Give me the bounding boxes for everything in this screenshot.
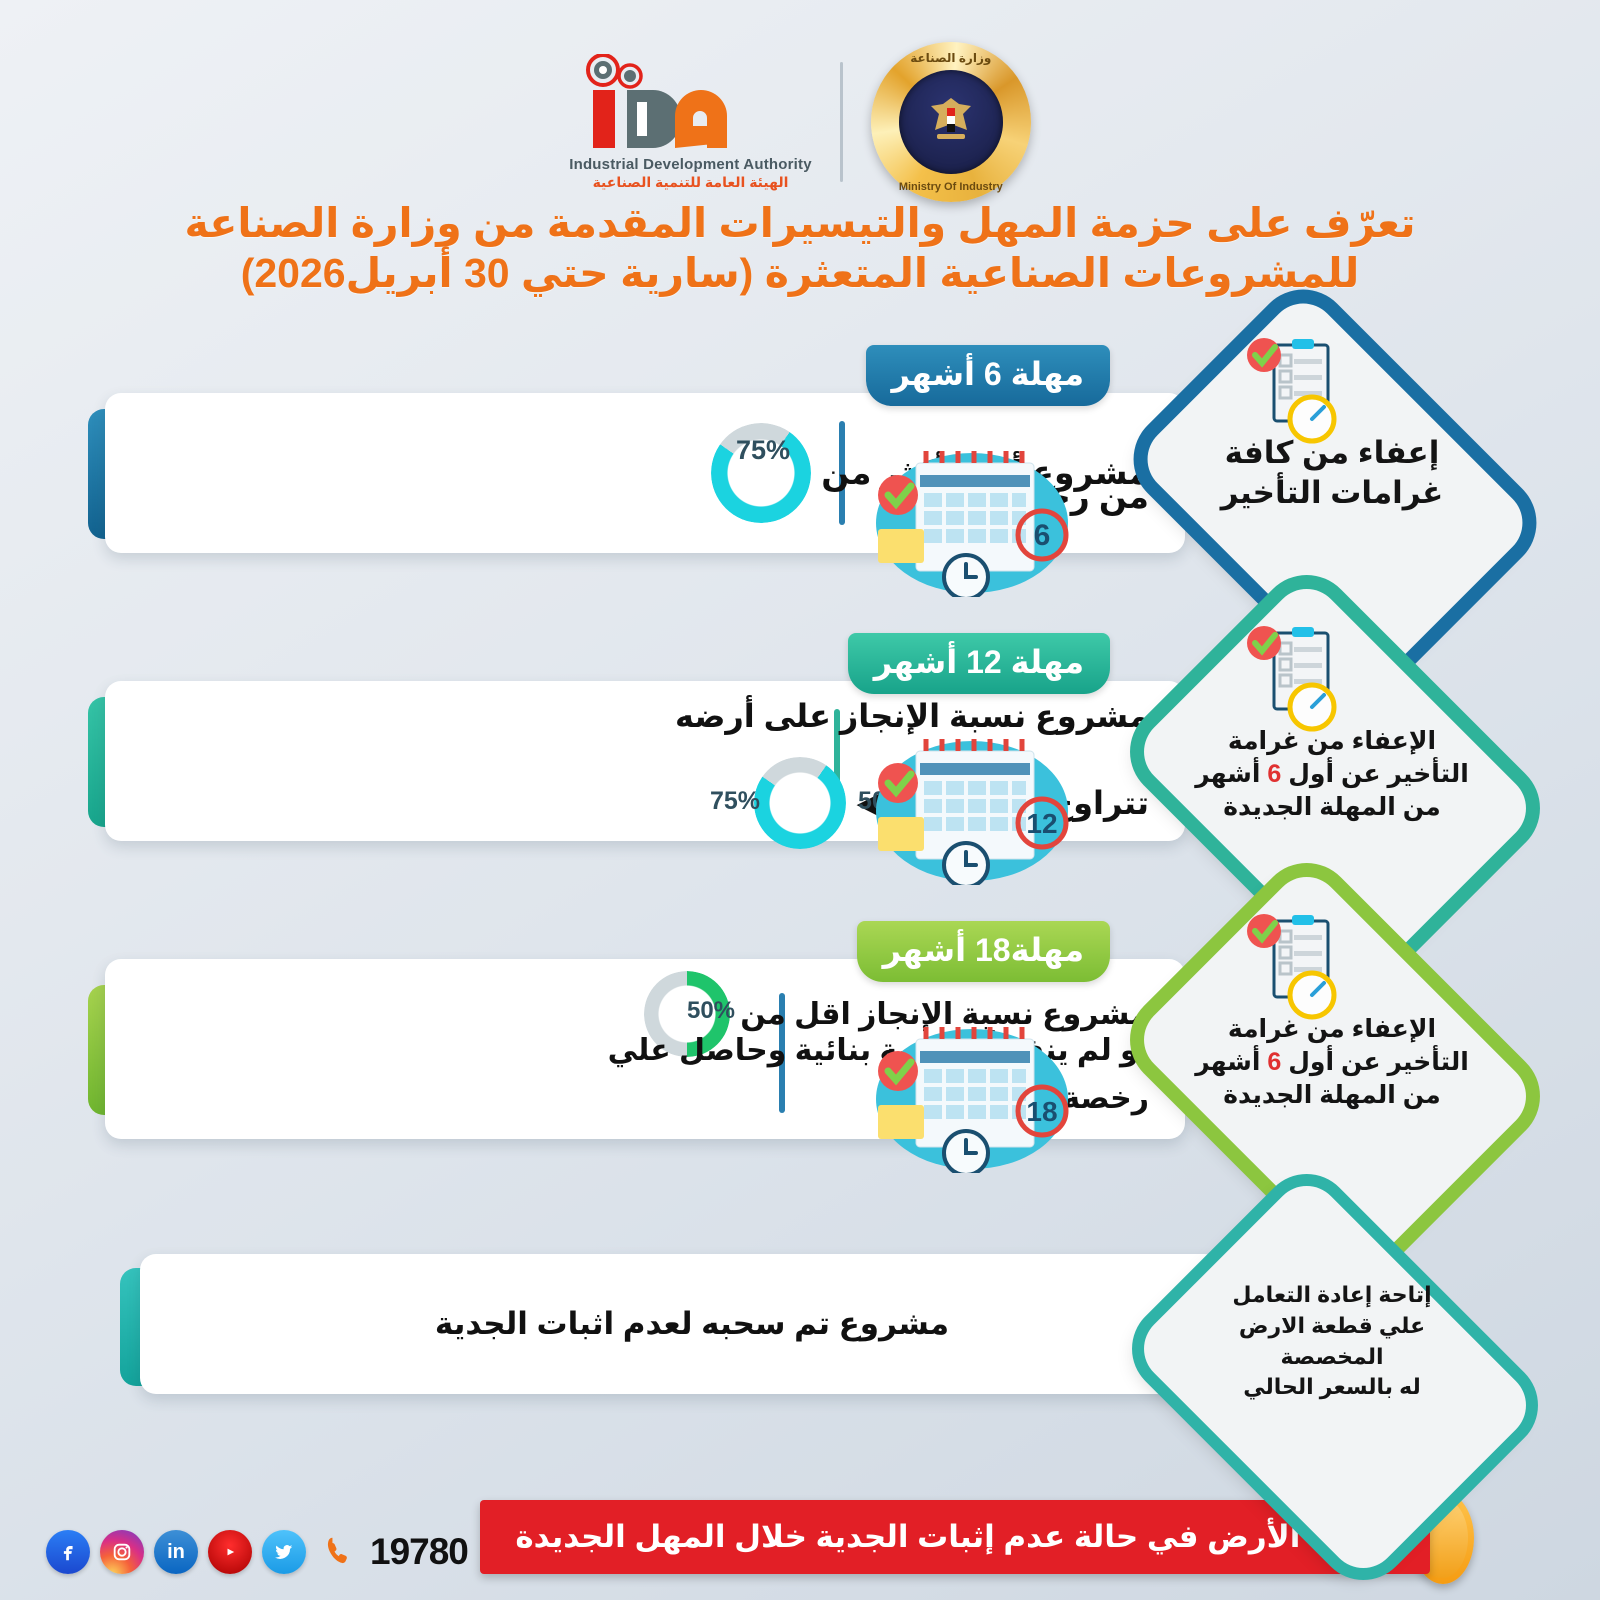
benefit-line3: له بالسعر الحالي xyxy=(1243,1374,1421,1399)
clipboard-check-icon xyxy=(1242,911,1342,1023)
benefit-line1: إتاحة إعادة التعامل xyxy=(1232,1282,1431,1307)
row-criteria-text: مشروع تم سحبه لعدم اثبات الجدية xyxy=(200,1254,1184,1394)
phone-icon xyxy=(322,1532,360,1572)
calendar-illustration-12: 12 xyxy=(854,725,1084,885)
facebook-icon[interactable] xyxy=(46,1530,90,1574)
instagram-icon[interactable] xyxy=(100,1530,144,1574)
seal-english-label: Ministry Of Industry xyxy=(871,181,1031,193)
benefit-text: إتاحة إعادة التعامل علي قطعة الارض المخص… xyxy=(1188,1280,1476,1403)
benefit-line3: من المهلة الجديدة xyxy=(1223,793,1440,821)
page-title: تعرّف على حزمة المهل والتيسيرات المقدمة … xyxy=(74,198,1526,298)
logo-divider xyxy=(840,62,843,182)
donut-75-label: 75% xyxy=(713,431,813,469)
benefit-line2-a: التأخير عن أول xyxy=(1288,760,1469,788)
benefit-text: الإعفاء من غرامة التأخير عن أول 6 أشهر م… xyxy=(1182,1013,1482,1112)
calendar-number-18: 18 xyxy=(1026,1096,1057,1127)
ministry-seal: وزارة الصناعة Ministry Of Industry xyxy=(871,42,1031,202)
donut-75-label: 75% xyxy=(689,787,781,816)
benefit-line2: علي قطعة الارض المخصصة xyxy=(1239,1313,1425,1369)
benefit-text: الإعفاء من غرامة التأخير عن أول 6 أشهر م… xyxy=(1182,725,1482,824)
calendar-number-6: 6 xyxy=(1034,519,1051,552)
benefit-line2-b: أشهر xyxy=(1195,1048,1260,1076)
row-12-months: مشروع نسبة الإنجاز على أرضه تتراوح من 50… xyxy=(0,625,1600,925)
ida-letters-icon xyxy=(575,54,805,154)
benefit-diamond-wrap: الإعفاء من غرامة التأخير عن أول 6 أشهر م… xyxy=(1130,913,1510,1213)
calendar-illustration-6: 6 xyxy=(854,437,1084,597)
ida-logo-english: Industrial Development Authority xyxy=(569,156,812,173)
ida-logo: Industrial Development Authority الهيئة … xyxy=(569,54,812,191)
calendar-number-12: 12 xyxy=(1026,808,1057,839)
benefit-months-number: 6 xyxy=(1267,760,1281,788)
seal-arabic-label: وزارة الصناعة xyxy=(871,51,1031,65)
row-card: مشروع تم سحبه لعدم اثبات الجدية xyxy=(140,1254,1220,1394)
badge-12-months: مهلة 12 أشهر xyxy=(848,633,1110,694)
row-18-months: مشروع نسبة الإنجاز اقل من 50% أو لم ينفذ… xyxy=(0,913,1600,1213)
header-logos: Industrial Development Authority الهيئة … xyxy=(0,42,1600,202)
donut-50-label: 50% xyxy=(668,997,754,1025)
benefit-diamond-wrap: إتاحة إعادة التعامل علي قطعة الارض المخص… xyxy=(1130,1222,1510,1522)
social-links: in 19780 xyxy=(46,1530,468,1574)
clipboard-check-icon xyxy=(1242,335,1342,447)
ida-logo-arabic: الهيئة العامة للتنمية الصناعية xyxy=(593,174,789,191)
eagle-icon xyxy=(919,90,983,154)
badge-18-months: مهلة18 أشهر xyxy=(857,921,1110,982)
calendar-illustration-18: 18 xyxy=(854,1013,1084,1173)
seal-center xyxy=(899,70,1003,174)
row-6-months: مشروع أنجز أكثر من 75% من رخصة البناء مه… xyxy=(0,337,1600,637)
badge-6-months: مهلة 6 أشهر xyxy=(866,345,1110,406)
row-withdrawn: مشروع تم سحبه لعدم اثبات الجدية إتاحة إع… xyxy=(0,1232,1600,1422)
ida-logo-mark xyxy=(575,54,805,154)
benefit-months-number: 6 xyxy=(1267,1048,1281,1076)
twitter-icon[interactable] xyxy=(262,1530,306,1574)
hotline-number: 19780 xyxy=(370,1531,468,1573)
linkedin-icon[interactable]: in xyxy=(154,1530,198,1574)
benefit-line2-a: التأخير عن أول xyxy=(1288,1048,1469,1076)
clipboard-check-icon xyxy=(1242,623,1342,735)
benefit-line3: من المهلة الجديدة xyxy=(1223,1081,1440,1109)
benefit-line2-b: أشهر xyxy=(1195,760,1260,788)
youtube-icon[interactable] xyxy=(208,1530,252,1574)
